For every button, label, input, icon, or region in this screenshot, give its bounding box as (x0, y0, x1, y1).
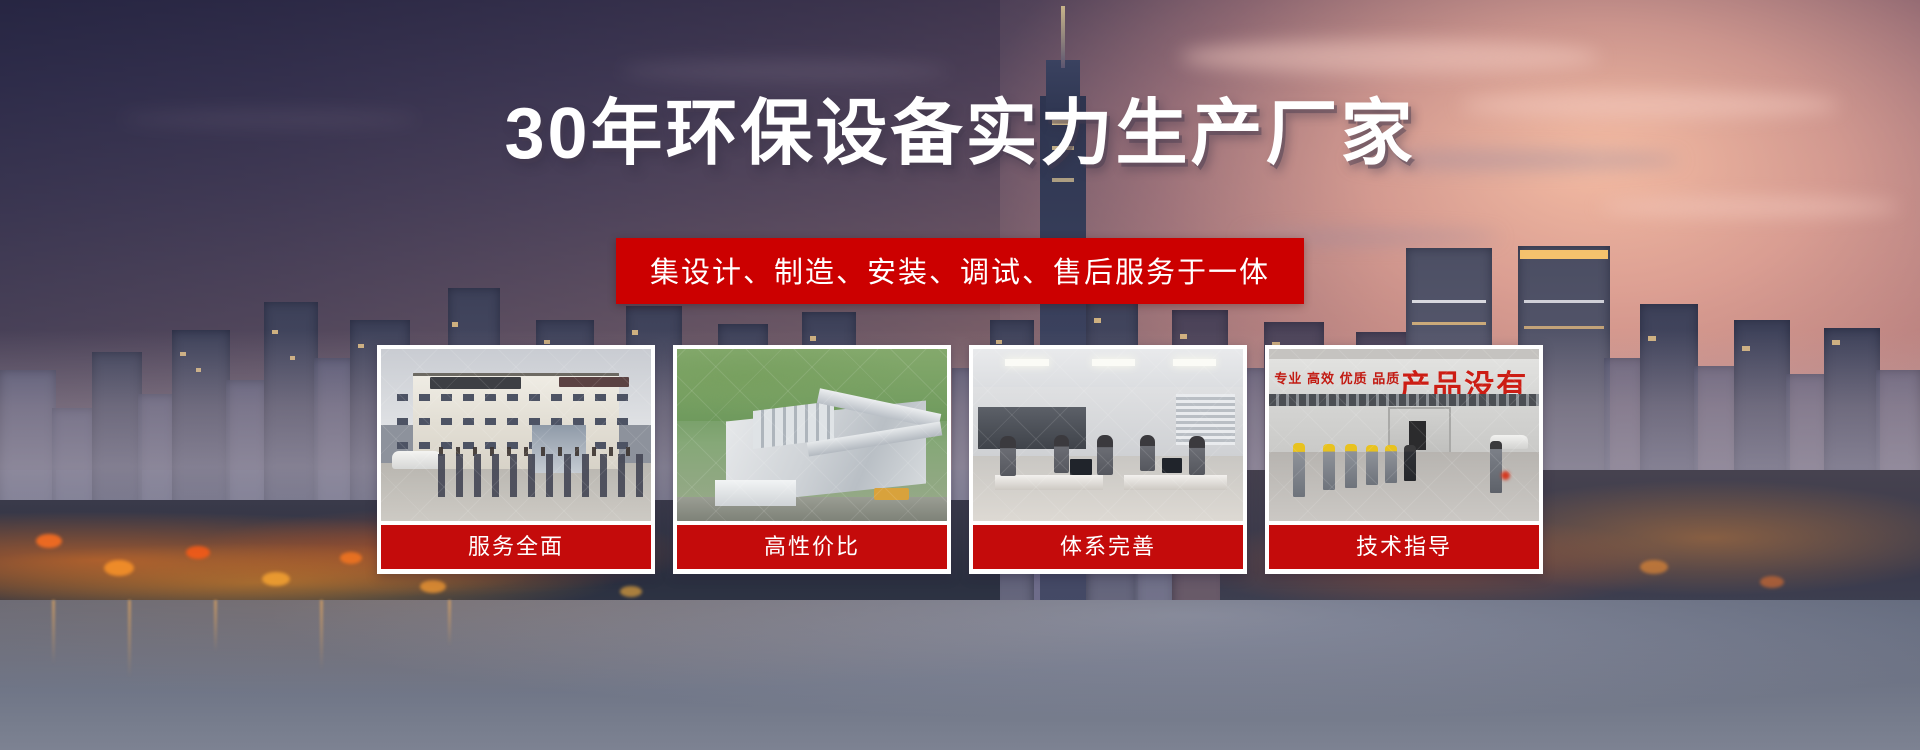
ceiling-lamp (1005, 359, 1048, 366)
page-title: 30年环保设备实力生产厂家 (0, 98, 1920, 170)
building-crown-light (1520, 250, 1608, 259)
feature-card-list: 服务全面 高性价比 (377, 345, 1543, 574)
card-photo-office (973, 349, 1243, 521)
parked-car (392, 451, 443, 470)
shore-light (620, 586, 642, 597)
shore-light (340, 552, 362, 564)
shore-light (186, 546, 210, 559)
supervisor (1490, 441, 1502, 493)
worker (1293, 443, 1305, 497)
monitor (1070, 459, 1092, 475)
office-worker (1189, 436, 1205, 475)
window-blinds (1176, 394, 1235, 446)
office-desk (1124, 475, 1227, 490)
subtitle-bar: 集设计、制造、安装、调试、售后服务于一体 (616, 238, 1304, 304)
office-worker (1054, 435, 1069, 473)
card-label: 服务全面 (381, 525, 651, 569)
office-desk (995, 475, 1103, 490)
staff-lineup (438, 454, 643, 497)
warehouse-shed (715, 480, 796, 506)
hero-banner: 30年环保设备实力生产厂家 集设计、制造、安装、调试、售后服务于一体 服务全面 (0, 0, 1920, 750)
shore-light (262, 572, 290, 586)
worker (1404, 445, 1416, 481)
window-light (452, 322, 458, 327)
office-worker (1000, 436, 1016, 476)
water-reflection (128, 600, 131, 678)
window-light (1524, 300, 1604, 303)
window-light (1412, 300, 1486, 303)
worker (1385, 445, 1397, 483)
water-highlight (0, 600, 1920, 750)
shore-light (36, 534, 62, 548)
phone-number-sign (559, 377, 629, 387)
feature-card[interactable]: 专业 高效 优质 品质 产品没有 技术指导 (1265, 345, 1543, 574)
red-helmet (1501, 471, 1510, 480)
card-photo-service (381, 349, 651, 521)
worker (1366, 445, 1378, 485)
shore-light (420, 580, 446, 593)
office-partition (978, 407, 1086, 448)
worker (1323, 444, 1335, 490)
water-reflection (52, 600, 55, 664)
ceiling-lamp (1092, 359, 1135, 366)
window-row (397, 394, 635, 401)
ceiling-lamp (1173, 359, 1216, 366)
tower-light (1052, 178, 1074, 182)
shore-light (1640, 560, 1668, 574)
window-light (1094, 318, 1101, 323)
office-ceiling (973, 349, 1243, 387)
card-photo-workshop: 专业 高效 优质 品质 产品没有 (1269, 349, 1539, 521)
office-worker (1097, 435, 1113, 475)
card-label: 体系完善 (973, 525, 1243, 569)
water-reflection (214, 600, 217, 652)
feature-card[interactable]: 服务全面 (377, 345, 655, 574)
shore-light (1760, 576, 1784, 588)
water-reflection (320, 600, 323, 670)
facade-window-strip (1269, 394, 1539, 406)
card-label: 技术指导 (1269, 525, 1539, 569)
tower-spire (1061, 6, 1065, 68)
water-reflection (448, 600, 451, 646)
river-water (0, 600, 1920, 750)
yard-truck (874, 488, 909, 500)
company-logo-sign (430, 377, 522, 389)
shore-light (104, 560, 134, 576)
card-photo-factory-aerial (677, 349, 947, 521)
window-light (1412, 322, 1486, 325)
feature-card[interactable]: 高性价比 (673, 345, 951, 574)
card-label: 高性价比 (677, 525, 947, 569)
window-light (1524, 326, 1604, 329)
office-worker (1140, 435, 1155, 471)
feature-card[interactable]: 体系完善 (969, 345, 1247, 574)
window-row (397, 418, 635, 425)
worker (1345, 444, 1357, 488)
monitor (1162, 458, 1182, 473)
